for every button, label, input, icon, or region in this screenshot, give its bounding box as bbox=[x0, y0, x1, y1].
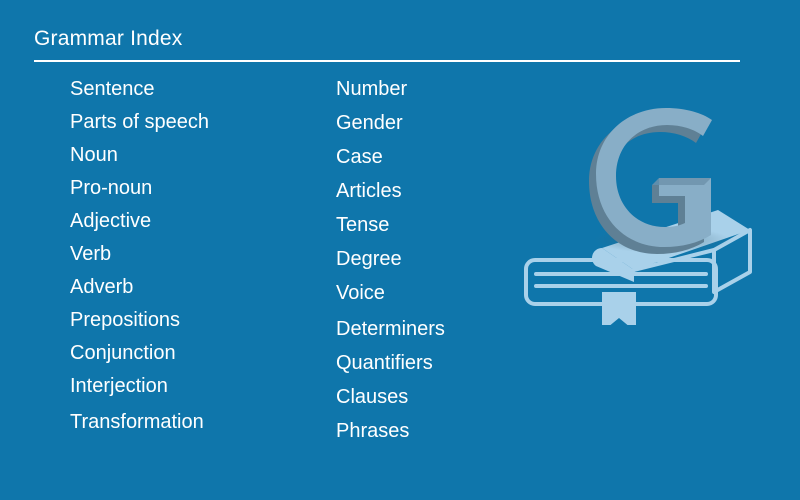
index-list-left: SentenceParts of speechNounPro-nounAdjec… bbox=[70, 78, 209, 433]
index-item[interactable]: Number bbox=[336, 78, 445, 100]
index-item[interactable]: Pro-noun bbox=[70, 177, 209, 199]
index-item[interactable]: Clauses bbox=[336, 386, 445, 408]
letter-g-top-highlight bbox=[652, 178, 711, 185]
index-item[interactable]: Parts of speech bbox=[70, 111, 209, 133]
bookmark-icon bbox=[602, 292, 636, 325]
index-item[interactable]: Prepositions bbox=[70, 309, 209, 331]
index-item[interactable]: Tense bbox=[336, 214, 445, 236]
index-item[interactable]: Degree bbox=[336, 248, 445, 270]
index-columns: SentenceParts of speechNounPro-nounAdjec… bbox=[0, 78, 520, 478]
illustration-grammar-book bbox=[510, 100, 780, 325]
index-column-left: SentenceParts of speechNounPro-nounAdjec… bbox=[70, 78, 209, 444]
index-list-right: NumberGenderCaseArticlesTenseDegreeVoice… bbox=[336, 78, 445, 442]
index-item[interactable]: Sentence bbox=[70, 78, 209, 100]
index-item[interactable]: Determiners bbox=[336, 318, 445, 340]
index-column-right: NumberGenderCaseArticlesTenseDegreeVoice… bbox=[336, 78, 445, 454]
index-item[interactable]: Adjective bbox=[70, 210, 209, 232]
index-item[interactable]: Gender bbox=[336, 112, 445, 134]
index-item[interactable]: Articles bbox=[336, 180, 445, 202]
title-divider bbox=[34, 60, 740, 62]
index-item[interactable]: Noun bbox=[70, 144, 209, 166]
index-item[interactable]: Case bbox=[336, 146, 445, 168]
letter-g-3d bbox=[589, 108, 712, 254]
slide-header: Grammar Index bbox=[34, 26, 740, 62]
index-item[interactable]: Verb bbox=[70, 243, 209, 265]
index-item[interactable]: Adverb bbox=[70, 276, 209, 298]
index-item[interactable]: Voice bbox=[336, 282, 445, 304]
index-item[interactable]: Quantifiers bbox=[336, 352, 445, 374]
index-item[interactable]: Interjection bbox=[70, 375, 209, 397]
page-title: Grammar Index bbox=[34, 26, 740, 52]
index-item[interactable]: Transformation bbox=[70, 411, 209, 433]
index-item[interactable]: Conjunction bbox=[70, 342, 209, 364]
index-item[interactable]: Phrases bbox=[336, 420, 445, 442]
slide-canvas: Grammar Index SentenceParts of speechNou… bbox=[0, 0, 800, 500]
